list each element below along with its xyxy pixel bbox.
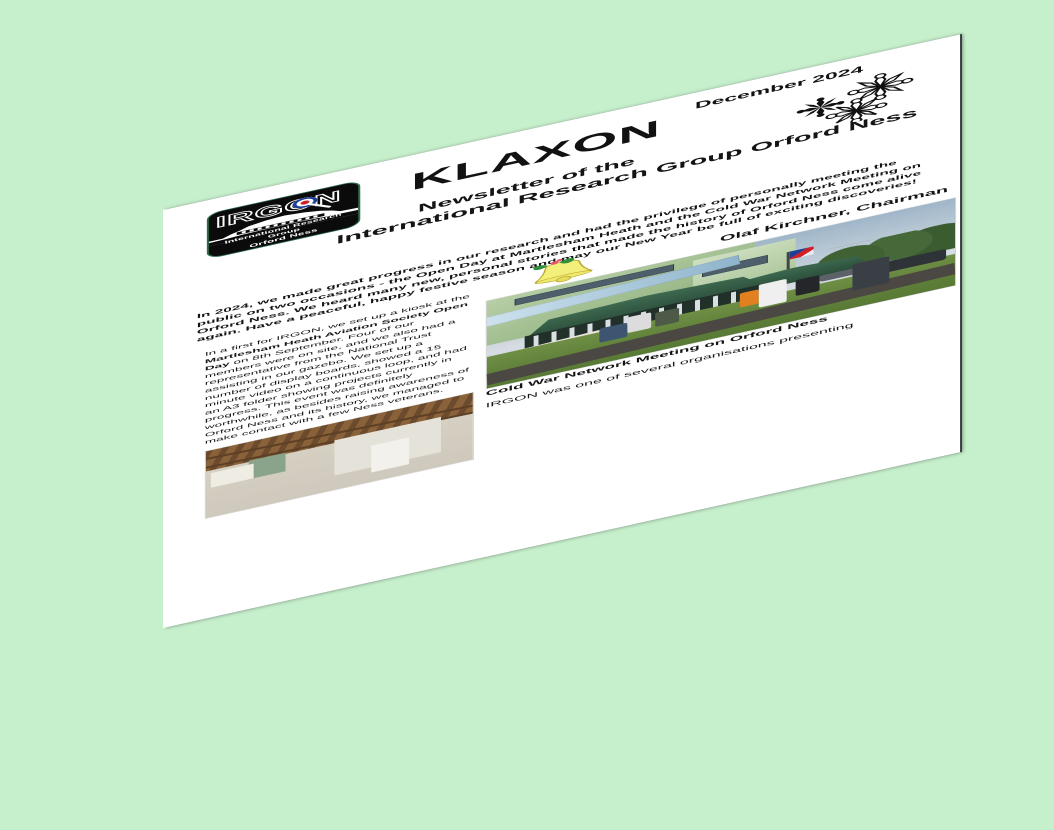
screenshot-stage: IRGON	[0, 0, 1054, 830]
irgon-logo: IRGON	[207, 180, 360, 260]
photo-flag-icon	[786, 252, 789, 272]
page-surface: IRGON	[163, 34, 960, 628]
newsletter-page: IRGON	[163, 34, 960, 628]
